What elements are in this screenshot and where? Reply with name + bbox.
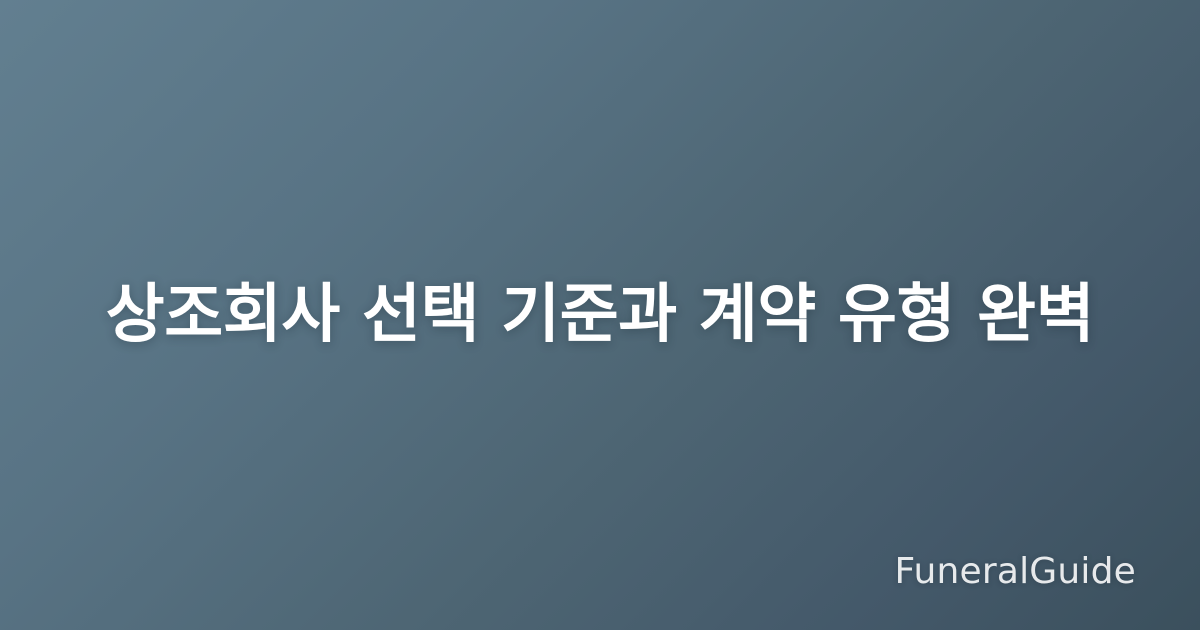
page-title: 상조회사 선택 기준과 계약 유형 완벽 xyxy=(46,273,1155,357)
card-content: 상조회사 선택 기준과 계약 유형 완벽 xyxy=(0,0,1200,630)
og-image-card: 상조회사 선택 기준과 계약 유형 완벽 FuneralGuide xyxy=(0,0,1200,630)
brand-label: FuneralGuide xyxy=(895,554,1137,590)
